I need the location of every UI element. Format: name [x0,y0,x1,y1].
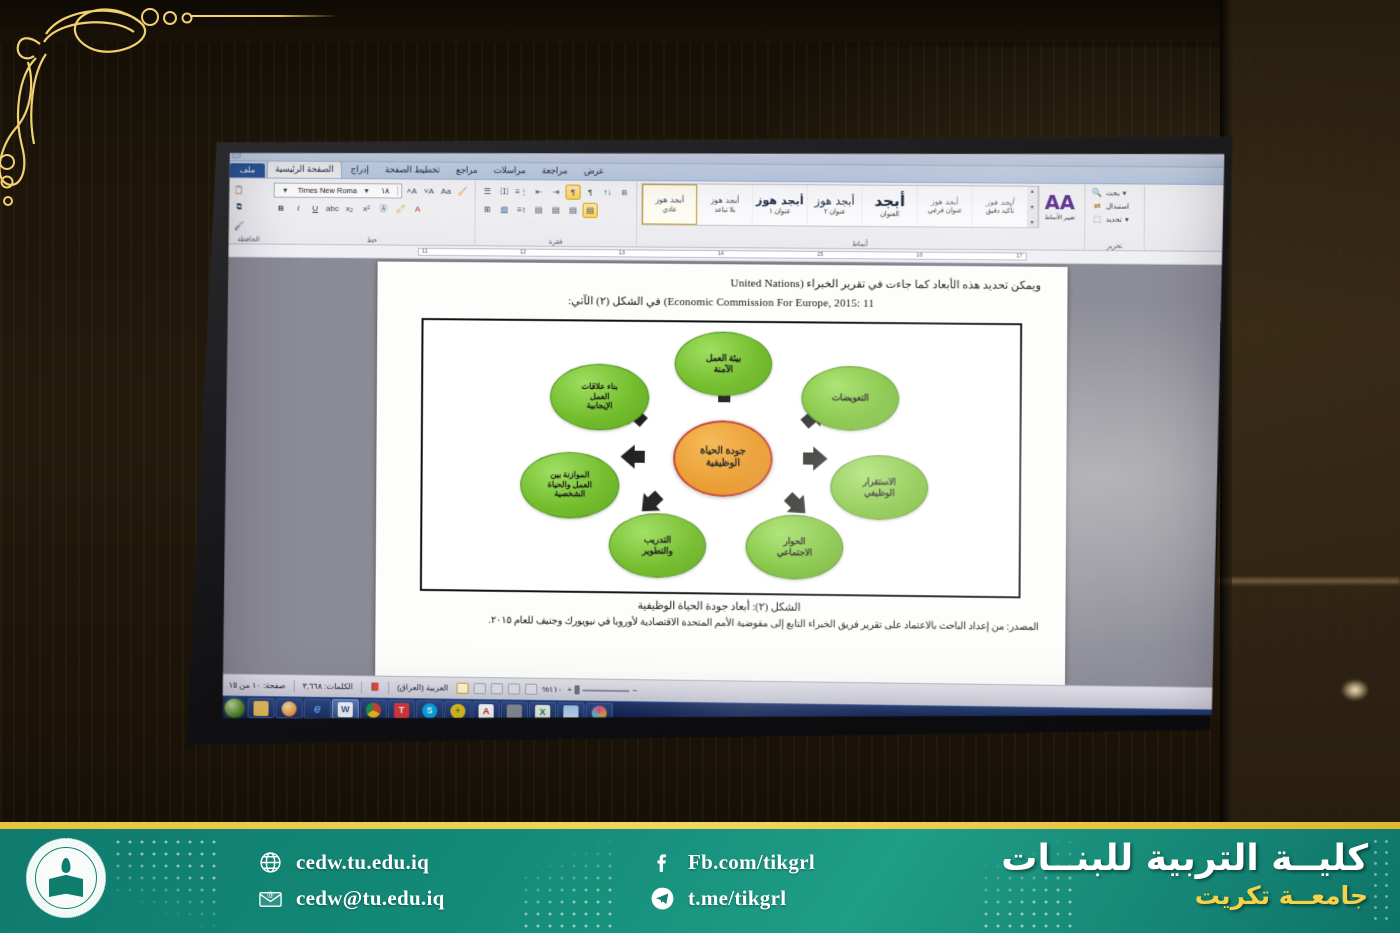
ruler-tick: 11 [422,249,428,255]
footer-gold-rule [0,822,1400,829]
document-canvas[interactable]: ويمكن تحديد هذه الأبعاد كما جاءت في تقري… [223,257,1224,687]
view-print-layout[interactable] [456,683,468,694]
center-label-line2: الوظيفية [706,458,740,470]
status-separator [388,681,389,693]
grow-font-icon[interactable]: A˄ [404,183,419,198]
paragraph-text-arabic: ويمكن تحديد هذه الأبعاد كما جاءت في تقري… [800,278,1041,292]
style-item-heading-1[interactable]: أبجد هوز عنوان ١ [752,185,807,226]
taskbar-item-internet-explorer[interactable]: e [304,699,331,719]
italic-button[interactable]: I [291,200,306,215]
proofing-errors-icon[interactable]: 📕 [370,682,380,691]
style-item-subtitle[interactable]: أبجد هوز عنوان فرعي [917,186,972,227]
node-label-line1: الاستقرار [863,477,896,488]
contact-telegram[interactable]: t.me/tikgrl [650,880,815,916]
taskbar-item-browser-orb[interactable] [275,698,302,718]
rtl-direction-icon[interactable]: ¶ [565,184,580,199]
zoom-slider[interactable]: − + [567,685,637,695]
replace-label: استبدال [1106,202,1129,210]
zoom-level-value[interactable]: ١١٠% [542,685,562,694]
contact-email[interactable]: @ cedw@tu.edu.iq [258,880,445,916]
logo-flame-icon [62,858,71,873]
group-label-clipboard: الحافظة [227,235,269,243]
paste-icon[interactable]: 📋 [232,182,247,197]
excel-icon: X [535,704,550,719]
browser-orb-icon [282,701,297,716]
contact-facebook[interactable]: Fb.com/tikgrl [650,844,815,880]
status-word-count[interactable]: الكلمات: ٣,٦٦٨ [303,682,353,692]
ruler-tick: 15 [817,252,823,258]
diagram-node-positive-relations: بناء علاقات العمل الإيجابية [550,363,650,430]
chevron-down-icon[interactable]: ▾ [278,182,293,197]
replace-icon: ⇄ [1092,200,1103,211]
paragraph-citation-latin: Economic Commission For Europe, 2015: 11 [667,296,874,310]
font-controls[interactable]: ▾ Times New Roma ▾ ١٨ [274,182,403,198]
scroll-down-icon[interactable]: ▾ [1031,203,1034,210]
taskbar-item-chrome[interactable] [360,699,387,719]
university-logo [26,838,106,918]
find-button[interactable]: 🔍 بحث ▾ [1090,186,1140,200]
numbering-icon[interactable]: ⑴ [497,184,512,199]
diagram-arrow-left [620,442,644,470]
paragraph-text-latin: United Nations [731,277,800,290]
copy-icon[interactable]: ⧉ [231,200,246,215]
tab-review[interactable]: مراجعة [535,163,575,179]
email-text: cedw@tu.edu.iq [296,886,445,911]
align-right-icon[interactable]: ▤ [583,202,598,217]
view-full-screen[interactable] [473,683,485,694]
institution-brand: كليــة التربية للبنــات جامعــة تكريت [1001,838,1368,911]
shrink-font-icon[interactable]: A˅ [421,183,436,198]
style-name: العنوان [880,210,899,218]
group-label-font: خط [269,236,474,246]
taskbar-item-explorer[interactable] [247,698,274,718]
view-draft[interactable] [525,684,537,695]
photo-scene: ملف الصفحة الرئيسية إدراج تخطيط الصفحة م… [0,0,1400,933]
node-label-line1: الموازنة بين [550,470,589,480]
node-label-line3: الإيجابية [587,401,613,411]
styles-gallery[interactable]: أبجد هوز عادي أبجد هوز بلا تباعد أبجد هو… [641,183,1039,228]
lamp-reflection-secondary [1342,680,1368,700]
diagram-node-job-stability: الاستقرار الوظيفي [830,454,928,520]
replace-button[interactable]: ⇄ استبدال [1089,199,1139,213]
document-page[interactable]: ويمكن تحديد هذه الأبعاد كما جاءت في تقري… [375,261,1068,685]
envelope-icon: @ [258,886,283,911]
shading-icon[interactable]: ▧ [497,202,512,217]
multilevel-list-icon[interactable]: ⋮≡ [514,184,529,199]
tab-mailings[interactable]: مراسلات [486,163,532,179]
telegram-text: t.me/tikgrl [688,886,786,911]
borders-icon[interactable]: ⊞ [480,202,495,217]
bullets-icon[interactable]: ☰ [480,183,495,198]
node-label-line2: العمل [590,392,609,402]
node-label-line2: الآمنة [714,363,733,373]
style-preview: أبجد هوز [986,198,1013,206]
diagram-node-center: جودة الحياة الوظيفية [673,419,773,497]
node-label-line1: بناء علاقات [581,382,618,392]
style-item-subtle-emphasis[interactable]: أبجد هوز تأكيد دقيق [972,186,1027,227]
ruler-tick: 17 [1016,253,1022,259]
align-center-icon[interactable]: ▤ [565,202,580,217]
sort-icon[interactable]: ↓↑ [600,184,615,199]
facebook-text: Fb.com/tikgrl [688,850,815,875]
line-spacing-icon[interactable]: ↕≡ [514,202,529,217]
ruler-tick: 14 [718,251,724,257]
style-preview: أبجد هوز [710,196,739,204]
contact-website[interactable]: cedw.tu.edu.iq [258,844,445,880]
taskbar-item-skype[interactable]: S [416,700,443,720]
style-name: تأكيد دقيق [986,207,1014,215]
facebook-icon [650,850,675,875]
clear-formatting-icon[interactable]: 🧹 [456,183,471,198]
ltr-direction-icon[interactable]: ¶ [583,184,598,199]
start-orb-icon[interactable] [224,698,244,717]
logo-inner-ring [35,847,97,909]
wall-display: ملف الصفحة الرئيسية إدراج تخطيط الصفحة م… [186,130,1232,760]
font-color-icon[interactable]: A [410,201,425,216]
word-icon: W [338,702,353,717]
node-label-line2: الاجتماعي [777,546,812,557]
style-name: بلا تباعد [714,205,735,213]
style-name: عنوان ٢ [824,208,846,216]
word-application: ملف الصفحة الرئيسية إدراج تخطيط الصفحة م… [222,147,1224,733]
style-item-no-spacing[interactable]: أبجد هوز بلا تباعد [697,184,752,225]
styles-gallery-scrollbar[interactable]: ▴ ▾ ▾ [1027,187,1039,228]
change-styles-label: تغيير الأنماط [1044,215,1074,221]
change-case-icon[interactable]: Aa [438,183,453,198]
node-label-line1: بيئة العمل [706,353,741,364]
taskbar-item-app-t[interactable]: T [388,700,415,720]
style-item-normal[interactable]: أبجد هوز عادي [642,184,697,225]
svg-text:@: @ [267,891,274,899]
node-label-line3: الشخصية [554,489,585,499]
style-name: عنوان ١ [769,207,790,215]
style-name: عنوان فرعي [928,206,962,214]
subscript-button[interactable]: x₂ [342,201,357,216]
figure-diagram: جودة الحياة الوظيفية [420,318,1022,598]
diagram-node-social-dialogue: الحوار الاجتماعي [745,514,843,580]
node-label-line1: التعويضات [832,393,869,404]
strikethrough-button[interactable]: abc [325,200,340,215]
ribbon-group-paragraph: ☰ ⑴ ⋮≡ ⇤ ⇥ ¶ ¶ ↓↑ B ⊞ ▧ [475,181,637,246]
node-label-line2: العمل والحياة [548,480,592,490]
website-text: cedw.tu.edu.iq [296,850,429,875]
view-outline[interactable] [508,683,520,694]
format-painter-icon[interactable]: 🖌 [231,218,246,233]
style-preview: أبجد هوز [756,195,804,206]
highlight-color-icon[interactable]: 🖍 [393,201,408,216]
t-app-icon: T [394,702,409,717]
tab-references[interactable]: مراجع [449,163,485,179]
chevron-down-icon[interactable]: ▾ [1123,189,1127,197]
logo-book-icon [49,875,83,897]
text-effects-icon[interactable]: Ⓐ [376,201,391,216]
status-language[interactable]: العربية (العراق) [397,683,448,693]
chrome-icon [366,702,381,717]
style-preview: أبجد هوز [815,195,855,206]
monitor-screen: ملف الصفحة الرئيسية إدراج تخطيط الصفحة م… [222,147,1224,733]
increase-indent-icon[interactable]: ⇥ [548,184,563,199]
chevron-down-icon[interactable]: ▾ [1125,215,1129,223]
brand-college-name: كليــة التربية للبنــات [1001,838,1368,879]
dot-pattern-mid [520,836,616,928]
font-name-value[interactable]: Times New Roma [295,185,357,194]
ribbon-group-editing: 🔍 بحث ▾ ⇄ استبدال ⬚ تحديد ▾ [1085,185,1145,250]
select-button[interactable]: ⬚ تحديد ▾ [1089,212,1139,226]
ornament-rule [190,15,338,17]
decrease-indent-icon[interactable]: ⇤ [531,184,546,199]
select-label: تحديد [1106,215,1122,223]
dot-pattern-left [112,836,220,928]
style-preview: أبجد [874,194,905,209]
scroll-up-icon[interactable]: ▴ [1031,188,1034,195]
dot-pattern-edge [1370,836,1396,928]
wall-right-panel [1220,0,1400,822]
contact-column-web: cedw.tu.edu.iq @ cedw@tu.edu.iq [258,844,445,916]
wall-right-highlight [1220,578,1400,584]
zoom-out-button[interactable]: − [633,686,638,695]
group-label-editing: تحرير [1085,242,1144,251]
brand-university-name: جامعــة تكريت [1001,881,1368,911]
select-icon: ⬚ [1091,213,1102,224]
status-separator [361,681,362,693]
node-label-line2: والتطوير [642,545,672,556]
ribbon-home: 📋 ⧉ 🖌 الحافظة ▾ [225,178,1224,252]
more-styles-icon[interactable]: ▾ [1031,219,1034,226]
ruler-tick: 13 [619,250,625,256]
tab-page-layout[interactable]: تخطيط الصفحة [378,162,447,179]
diagram-node-training: التدريب والتطوير [609,512,707,578]
zoom-in-button[interactable]: + [567,685,572,694]
telegram-icon [650,886,675,911]
institution-footer-banner: cedw.tu.edu.iq @ cedw@tu.edu.iq [0,822,1400,933]
show-formatting-marks-icon[interactable]: B [617,184,632,199]
status-separator [293,680,294,692]
change-styles-icon[interactable]: AA [1045,193,1075,212]
paragraph-citation-tail: ) في الشكل (٢) الآتي: [568,295,667,308]
tab-file[interactable]: ملف [230,163,265,177]
diagram-arrow-right [803,444,828,473]
diagram-node-safe-environment: بيئة العمل الآمنة [675,331,773,396]
zoom-slider-track[interactable] [583,689,630,692]
pdf-tool-icon [507,704,522,719]
diagram-node-compensation: التعويضات [801,365,899,431]
tab-view[interactable]: عرض [577,164,612,180]
style-item-heading-2[interactable]: أبجد هوز عنوان ٢ [807,185,862,226]
internet-explorer-icon: e [310,701,325,716]
style-preview: أبجد هوز [931,198,958,206]
justify-icon[interactable]: ▤ [531,202,546,217]
tab-insert[interactable]: إدراج [344,162,376,178]
style-preview: أبجد هوز [655,196,684,204]
find-label: بحث [1106,189,1120,197]
adobe-reader-icon: A [479,704,494,719]
status-view-controls: ١١٠% − + [456,683,637,697]
ribbon-group-font: ▾ Times New Roma ▾ ١٨ A˄ A˅ Aa 🧹 B [269,180,475,246]
taskbar-item-word[interactable]: W [332,699,359,719]
contact-column-social: Fb.com/tikgrl t.me/tikgrl [650,844,815,916]
skype-icon: S [422,703,437,718]
node-label-line1: التدريب [644,535,671,546]
ruler-tick: 12 [520,250,526,256]
superscript-button[interactable]: x² [359,201,374,216]
underline-button[interactable]: U [308,200,323,215]
bold-button[interactable]: B [274,200,289,215]
status-page-number[interactable]: صفحة: ١٠ من ١٥ [229,681,286,691]
chevron-down-icon[interactable]: ▾ [359,183,374,198]
font-size-value[interactable]: ١٨ [376,186,398,195]
search-icon: 🔍 [1092,187,1103,198]
center-label-line1: جودة الحياة [700,446,746,458]
ribbon-group-styles: أبجد هوز عادي أبجد هوز بلا تباعد أبجد هو… [637,182,1086,250]
style-item-title[interactable]: أبجد العنوان [862,186,917,227]
green-plus-icon: + [450,703,465,718]
style-name: عادي [663,205,677,213]
align-left-icon[interactable]: ▤ [548,202,563,217]
ruler-tick: 16 [916,253,922,259]
folder-icon [253,700,268,715]
view-web-layout[interactable] [490,683,502,694]
tab-home[interactable]: الصفحة الرئيسية [267,161,342,179]
node-label-line1: الحوار [784,536,806,547]
diagram-node-work-life-balance: الموازنة بين العمل والحياة الشخصية [520,451,619,518]
node-label-line2: الوظيفي [864,487,895,498]
group-label-paragraph: فقرة [475,237,636,246]
zoom-slider-knob[interactable] [575,685,580,694]
globe-icon [258,850,283,875]
ribbon-group-clipboard: 📋 ⧉ 🖌 الحافظة [227,179,269,243]
